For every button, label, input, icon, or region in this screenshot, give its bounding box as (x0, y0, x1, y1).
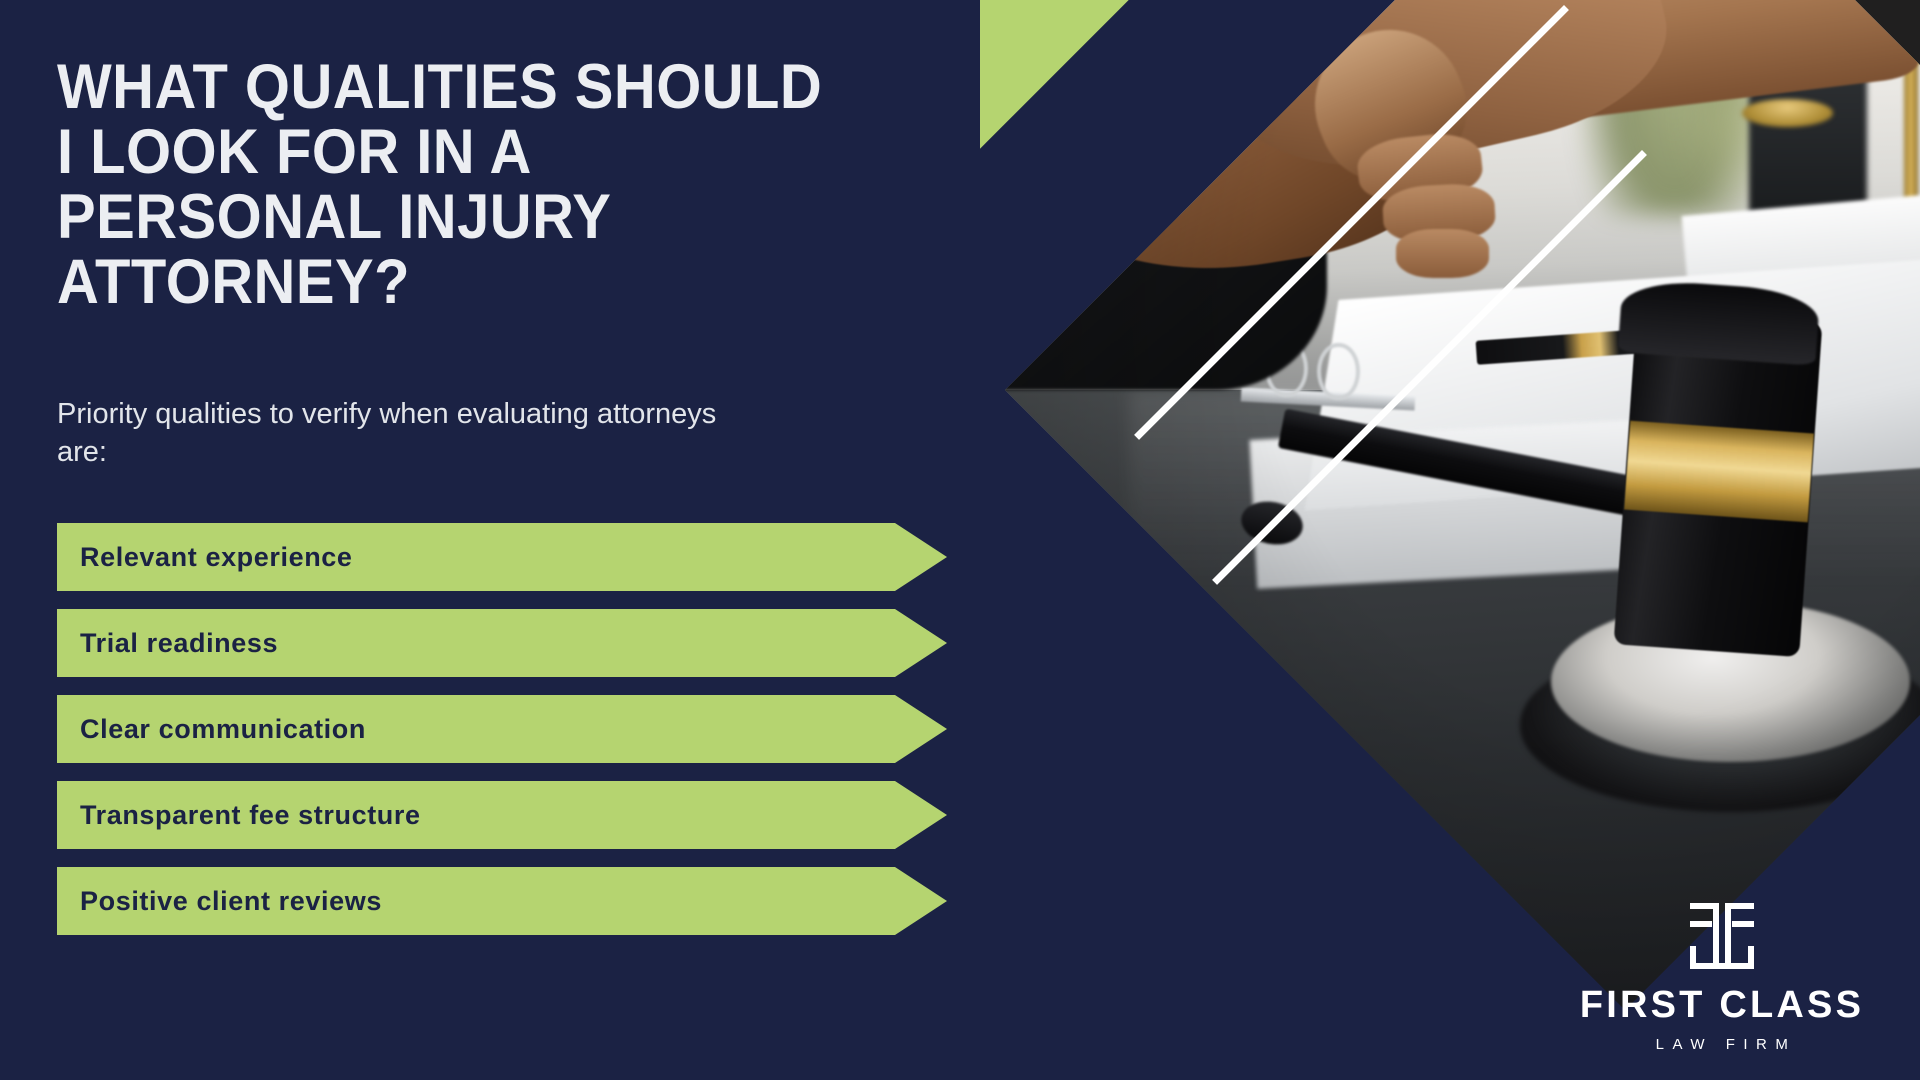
logo-name: FIRST CLASS (1572, 986, 1872, 1024)
list-item-label: Clear communication (57, 714, 366, 745)
brand-logo[interactable]: FIRST CLASS LAW FIRM (1572, 900, 1872, 1052)
list-item[interactable]: Transparent fee structure (57, 781, 947, 849)
first-class-monogram-icon (1684, 900, 1760, 974)
list-item-label: Trial readiness (57, 628, 278, 659)
infographic-canvas: What Qualities Should I Look For In A Pe… (0, 0, 1920, 1080)
qualities-list: Relevant experience Trial readiness Clea… (57, 523, 947, 953)
page-title: What Qualities Should I Look For In A Pe… (57, 55, 848, 315)
list-item[interactable]: Positive client reviews (57, 867, 947, 935)
list-item-label: Relevant experience (57, 542, 353, 573)
photo-handshake-gavel-scales (1005, 0, 1920, 1010)
content-panel: What Qualities Should I Look For In A Pe… (57, 0, 957, 1080)
diamond-photo (1005, 0, 1920, 1010)
list-item[interactable]: Trial readiness (57, 609, 947, 677)
list-item[interactable]: Relevant experience (57, 523, 947, 591)
list-item-label: Positive client reviews (57, 886, 382, 917)
list-item-label: Transparent fee structure (57, 800, 421, 831)
subtitle: Priority qualities to verify when evalua… (57, 395, 747, 472)
logo-tagline: LAW FIRM (1572, 1037, 1872, 1052)
list-item[interactable]: Clear communication (57, 695, 947, 763)
photo-vignette (1005, 0, 1920, 1010)
